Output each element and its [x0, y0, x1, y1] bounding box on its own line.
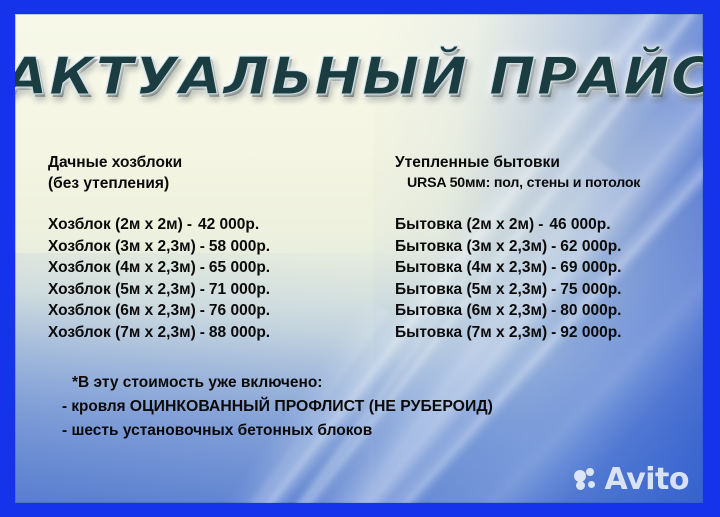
price-amount: 46 000р.: [549, 214, 610, 236]
price-label: Бытовка (2м х 2м): [395, 214, 534, 236]
note-roofing: - кровля ОЦИНКОВАННЫЙ ПРОФЛИСТ (НЕ РУБЕР…: [15, 395, 703, 419]
price-label: Хозблок (2м х 2м): [48, 214, 183, 236]
note-roofing-caps: ОЦИНКОВАННЫЙ ПРОФЛИСТ (НЕ РУБЕРОИД): [130, 398, 493, 415]
price-amount: 92 000р.: [560, 322, 621, 344]
right-heading-line-2: URSA 50мм: пол, стены и потолок: [395, 173, 640, 194]
title-area: АКТУАЛЬНЫЙ ПРАЙС: [15, 50, 703, 105]
price-row: Бытовка (4м х 2,3м)-69 000р.: [395, 257, 703, 279]
price-dash: -: [196, 300, 209, 322]
price-label: Хозблок (5м х 2,3м): [48, 279, 196, 301]
note-roofing-prefix: - кровля: [62, 398, 130, 415]
poster: АКТУАЛЬНЫЙ ПРАЙС Дачные хозблоки (без ут…: [0, 0, 720, 517]
price-dash: -: [547, 300, 560, 322]
price-label: Хозблок (6м х 2,3м): [48, 300, 196, 322]
price-dash: -: [534, 214, 549, 236]
price-dash: -: [183, 214, 198, 236]
price-amount: 76 000р.: [209, 300, 270, 322]
price-dash: -: [196, 236, 209, 258]
poster-title: АКТУАЛЬНЫЙ ПРАЙС: [15, 50, 703, 105]
price-row: Бытовка (6м х 2,3м)-80 000р.: [395, 300, 703, 322]
price-dash: -: [196, 257, 209, 279]
left-column-heading: Дачные хозблоки (без утепления): [48, 152, 388, 194]
price-amount: 88 000р.: [209, 322, 270, 344]
price-row: Хозблок (3м х 2,3м)-58 000р.: [48, 236, 388, 258]
right-column-heading: Утепленные бытовки URSA 50мм: пол, стены…: [395, 152, 703, 194]
price-dash: -: [547, 279, 560, 301]
price-label: Хозблок (7м х 2,3м): [48, 322, 196, 344]
price-amount: 71 000р.: [209, 279, 270, 301]
price-dash: -: [547, 257, 560, 279]
left-price-list: Хозблок (2м х 2м)-42 000р. Хозблок (3м х…: [48, 214, 388, 343]
price-dash: -: [547, 322, 560, 344]
price-label: Хозблок (4м х 2,3м): [48, 257, 196, 279]
price-label: Бытовка (5м х 2,3м): [395, 279, 547, 301]
poster-canvas: АКТУАЛЬНЫЙ ПРАЙС Дачные хозблоки (без ут…: [15, 14, 703, 503]
price-row: Бытовка (5м х 2,3м)-75 000р.: [395, 279, 703, 301]
right-price-list: Бытовка (2м х 2м)-46 000р. Бытовка (3м х…: [395, 214, 703, 343]
price-label: Бытовка (6м х 2,3м): [395, 300, 547, 322]
price-dash: -: [196, 322, 209, 344]
note-blocks: - шесть установочных бетонных блоков: [15, 419, 703, 443]
price-dash: -: [196, 279, 209, 301]
left-heading-line-2: (без утепления): [48, 173, 388, 194]
price-label: Бытовка (4м х 2,3м): [395, 257, 547, 279]
right-price-column: Утепленные бытовки URSA 50мм: пол, стены…: [395, 152, 703, 343]
price-amount: 62 000р.: [560, 236, 621, 258]
price-row: Бытовка (7м х 2,3м)-92 000р.: [395, 322, 703, 344]
price-label: Хозблок (3м х 2,3м): [48, 236, 196, 258]
price-amount: 58 000р.: [209, 236, 270, 258]
price-label: Бытовка (7м х 2,3м): [395, 322, 547, 344]
price-dash: -: [547, 236, 560, 258]
price-amount: 42 000р.: [198, 214, 259, 236]
avito-watermark: Avito: [574, 465, 689, 495]
price-row: Хозблок (6м х 2,3м)-76 000р.: [48, 300, 388, 322]
price-row: Хозблок (2м х 2м)-42 000р.: [48, 214, 388, 236]
note-heading: *В эту стоимость уже включено:: [15, 371, 703, 395]
price-row: Хозблок (5м х 2,3м)-71 000р.: [48, 279, 388, 301]
included-notes: *В эту стоимость уже включено: - кровля …: [15, 371, 703, 443]
left-heading-line-1: Дачные хозблоки: [48, 152, 388, 173]
price-amount: 75 000р.: [560, 279, 621, 301]
price-row: Хозблок (4м х 2,3м)-65 000р.: [48, 257, 388, 279]
right-heading-line-1: Утепленные бытовки: [395, 152, 703, 173]
price-amount: 69 000р.: [560, 257, 621, 279]
price-amount: 65 000р.: [209, 257, 270, 279]
price-row: Хозблок (7м х 2,3м)-88 000р.: [48, 322, 388, 344]
price-row: Бытовка (2м х 2м)-46 000р.: [395, 214, 703, 236]
avito-wordmark: Avito: [605, 465, 689, 495]
avito-dots-icon: [574, 468, 600, 492]
price-row: Бытовка (3м х 2,3м)-62 000р.: [395, 236, 703, 258]
left-price-column: Дачные хозблоки (без утепления) Хозблок …: [48, 152, 388, 343]
price-amount: 80 000р.: [560, 300, 621, 322]
price-label: Бытовка (3м х 2,3м): [395, 236, 547, 258]
